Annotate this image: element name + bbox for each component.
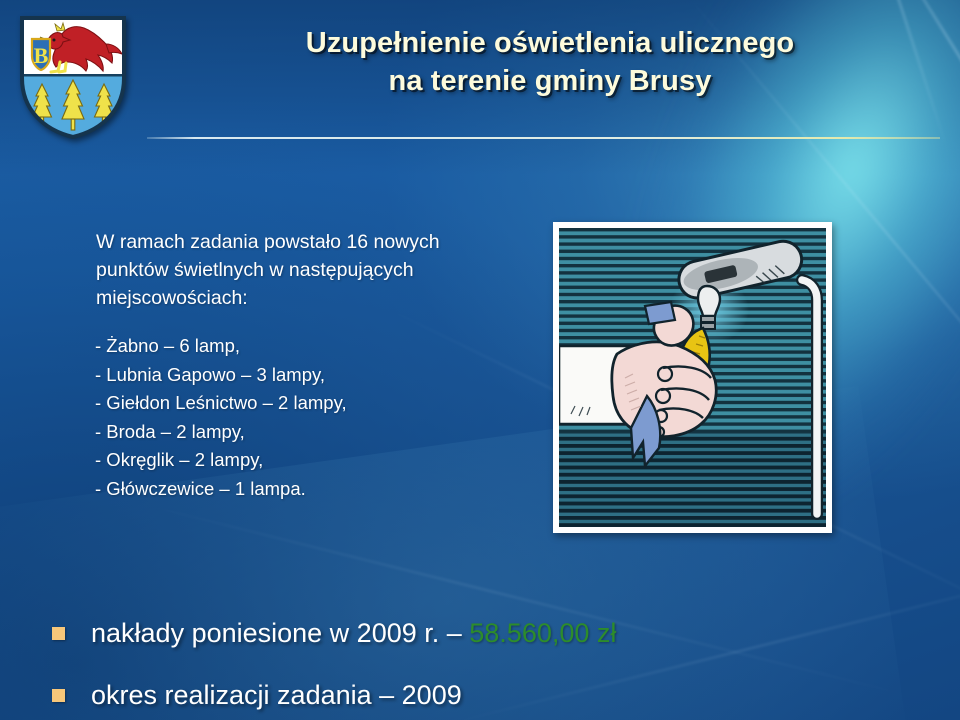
- cost-amount: 58.560,00 zł: [469, 618, 616, 648]
- list-item: - Żabno – 6 lamp,: [95, 332, 515, 361]
- list-item: - Giełdon Leśnictwo – 2 lampy,: [95, 389, 515, 418]
- crest-letter-b: B: [32, 39, 50, 70]
- title-line-2: na terenie gminy Brusy: [155, 63, 945, 101]
- bullet-label-cost: nakłady poniesione w 2009 r. –: [91, 618, 469, 648]
- bullet-text-cost: nakłady poniesione w 2009 r. – 58.560,00…: [91, 618, 616, 649]
- page-title: Uzupełnienie oświetlenia ulicznego na te…: [155, 25, 945, 100]
- bullet-item-cost: nakłady poniesione w 2009 r. – 58.560,00…: [52, 602, 922, 664]
- locations-list: - Żabno – 6 lamp, - Lubnia Gapowo – 3 la…: [95, 332, 515, 503]
- illustration-image: [559, 228, 826, 527]
- intro-paragraph: W ramach zadania powstało 16 nowych punk…: [96, 228, 476, 312]
- list-item: - Broda – 2 lampy,: [95, 418, 515, 447]
- illustration-frame: [553, 222, 832, 533]
- bullet-list: nakłady poniesione w 2009 r. – 58.560,00…: [52, 602, 922, 720]
- bullet-marker-icon: [52, 689, 65, 702]
- list-item: - Główczewice – 1 lampa.: [95, 475, 515, 504]
- title-divider: [147, 137, 940, 139]
- coat-of-arms: B: [18, 14, 128, 140]
- list-item: - Okręglik – 2 lampy,: [95, 446, 515, 475]
- slide-root: B Uzupełnienie oświetlenia ulicznego na …: [0, 0, 960, 720]
- bullet-marker-icon: [52, 627, 65, 640]
- list-item: - Lubnia Gapowo – 3 lampy,: [95, 361, 515, 390]
- crest-letter: B: [34, 43, 49, 68]
- bullet-item-period: okres realizacji zadania – 2009: [52, 664, 922, 720]
- bullet-text-period: okres realizacji zadania – 2009: [91, 680, 462, 711]
- title-line-1: Uzupełnienie oświetlenia ulicznego: [155, 25, 945, 63]
